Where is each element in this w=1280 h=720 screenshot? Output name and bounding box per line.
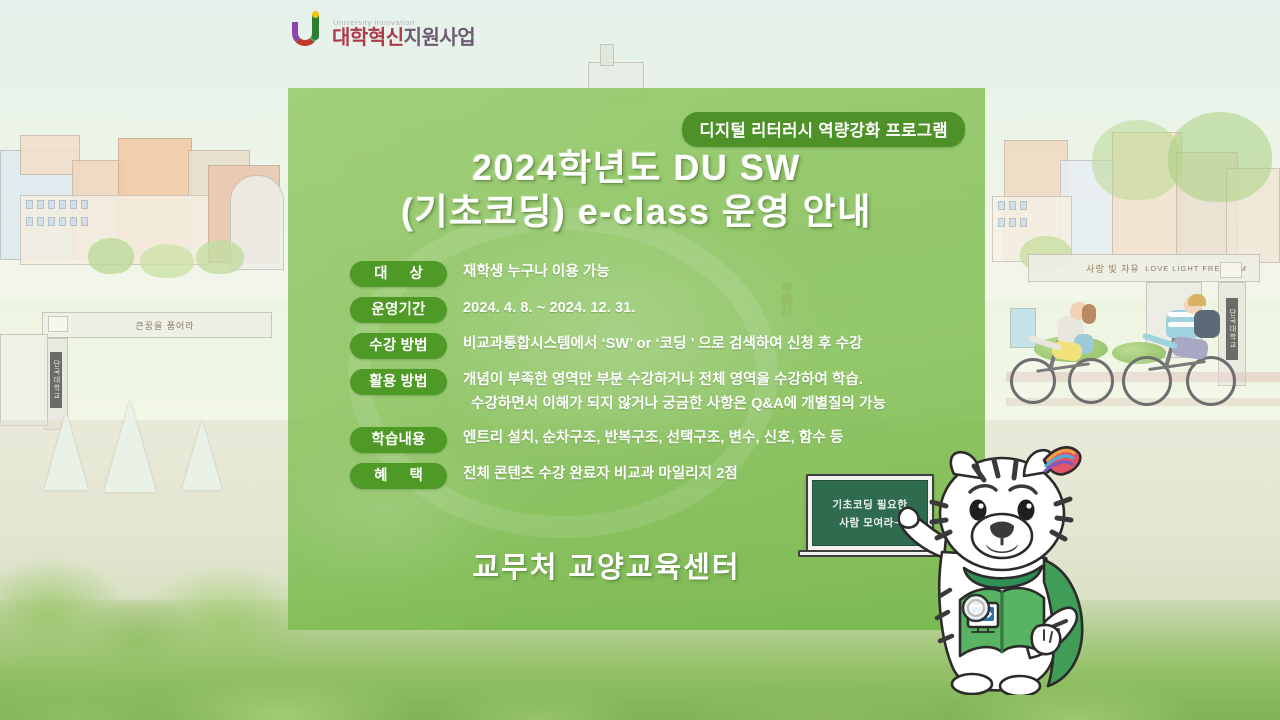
info-value-enrollment-line1: 비교과통합시스템에서 ‘SW’ or ‘코딩 ’ 으로 검색하여 신청 후 수강 [463, 336, 862, 352]
info-row-period: 운영기간 2024. 4. 8. ~ 2024. 12. 31. [350, 296, 967, 324]
building-block [600, 44, 614, 66]
tree [140, 244, 194, 278]
poster-root: 큰꿈을 품어라 단국대학교 사랑 빛 자유 LOVE LIGHT FREEDOM… [0, 0, 1280, 720]
info-value-target-line1: 재학생 누구나 이용 가능 [463, 264, 610, 280]
left-gate-lamp [48, 316, 68, 332]
cyclist-figure [1120, 294, 1252, 410]
left-gate-pillar-plate: 단국대학교 [50, 352, 62, 408]
info-row-enrollment: 수강 방법 비교과통합시스템에서 ‘SW’ or ‘코딩 ’ 으로 검색하여 신… [350, 332, 967, 360]
logo-title-part2: 지원사업 [404, 27, 476, 49]
logo-title: 대학혁신지원사업 [332, 28, 475, 48]
info-label-benefit: 혜 택 [350, 463, 447, 489]
info-value-period-line1: 2024. 4. 8. ~ 2024. 12. 31. [463, 300, 635, 316]
page-title-line2: (기초코딩) e-class 운영 안내 [288, 190, 985, 234]
building-block [20, 135, 80, 175]
info-value-benefit-line1: 전체 콘텐츠 수강 완료자 비교과 마일리지 2점 [463, 466, 738, 482]
tree [196, 240, 244, 274]
logo-subtitle: University innovation [333, 19, 475, 27]
info-label-target: 대 상 [350, 261, 447, 287]
info-table: 대 상 재학생 누구나 이용 가능 운영기간 2024. 4. 8. ~ 202… [350, 260, 967, 498]
info-value-usage: 개념이 부족한 영역만 부분 수강하거나 전체 영역을 수강하여 학습. 수강하… [447, 368, 967, 416]
info-value-usage-line1: 개념이 부족한 영역만 부분 수강하거나 전체 영역을 수강하여 학습. [463, 372, 863, 388]
info-value-enrollment: 비교과통합시스템에서 ‘SW’ or ‘코딩 ’ 으로 검색하여 신청 후 수강 [447, 332, 967, 356]
info-label-usage: 활용 방법 [350, 369, 447, 395]
info-value-curriculum-line1: 엔트리 설치, 순차구조, 반복구조, 선택구조, 변수, 신호, 함수 등 [463, 430, 843, 446]
page-title: 2024학년도 DU SW (기초코딩) e-class 운영 안내 [288, 146, 985, 234]
right-gate-lamp [1220, 262, 1242, 278]
info-row-usage: 활용 방법 개념이 부족한 영역만 부분 수강하거나 전체 영역을 수강하여 학… [350, 368, 967, 416]
program-badge: 디지털 리터러시 역량강화 프로그램 [682, 112, 965, 147]
university-innovation-logo: University innovation 대학혁신지원사업 [292, 14, 475, 48]
left-gate-wall [0, 334, 48, 426]
blackboard-line2: 사람 모여라~ [839, 515, 901, 530]
program-badge-row: 디지털 리터러시 역량강화 프로그램 [682, 112, 965, 147]
info-value-usage-line2: 수강하면서 이해가 되지 않거나 궁금한 사항은 Q&A에 개별질의 가능 [463, 392, 967, 416]
blackboard-line1: 기초코딩 필요한 [832, 497, 907, 512]
uj-monogram-icon [292, 14, 326, 48]
info-row-curriculum: 학습내용 엔트리 설치, 순차구조, 반복구조, 선택구조, 변수, 신호, 함… [350, 426, 967, 454]
logo-title-part1: 대학혁신 [332, 27, 404, 49]
info-value-curriculum: 엔트리 설치, 순차구조, 반복구조, 선택구조, 변수, 신호, 함수 등 [447, 426, 967, 450]
info-value-target: 재학생 누구나 이용 가능 [447, 260, 967, 284]
info-label-period: 운영기간 [350, 297, 447, 323]
tree [1168, 112, 1272, 202]
left-gate-sign-text: 큰꿈을 품어라 [100, 316, 230, 334]
cyclist-figure [1008, 300, 1128, 408]
info-label-curriculum: 학습내용 [350, 427, 447, 453]
page-title-line1: 2024학년도 DU SW [288, 146, 985, 190]
right-gate-sign-ko: 사랑 빛 자유 [1078, 258, 1148, 278]
info-label-enrollment: 수강 방법 [350, 333, 447, 359]
info-row-target: 대 상 재학생 누구나 이용 가능 [350, 260, 967, 288]
info-value-period: 2024. 4. 8. ~ 2024. 12. 31. [447, 296, 967, 320]
tree [88, 238, 134, 274]
white-tiger-mascot [898, 440, 1104, 695]
